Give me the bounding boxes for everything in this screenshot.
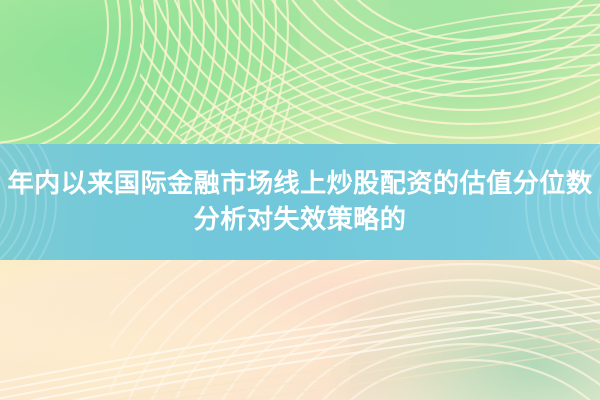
- background-cream-bottom-left-glow: [0, 250, 350, 400]
- banner-image: 年内以来国际金融市场线上炒股配资的估值分位数 分析对失效策略的: [0, 0, 600, 400]
- headline-band: 年内以来国际金融市场线上炒股配资的估值分位数 分析对失效策略的: [0, 144, 600, 260]
- headline-text-block: 年内以来国际金融市场线上炒股配资的估值分位数 分析对失效策略的: [0, 144, 600, 260]
- headline-line-1: 年内以来国际金融市场线上炒股配资的估值分位数: [8, 169, 593, 199]
- headline-line-2: 分析对失效策略的: [194, 205, 407, 235]
- background-green-bottom-right-glow: [330, 260, 600, 400]
